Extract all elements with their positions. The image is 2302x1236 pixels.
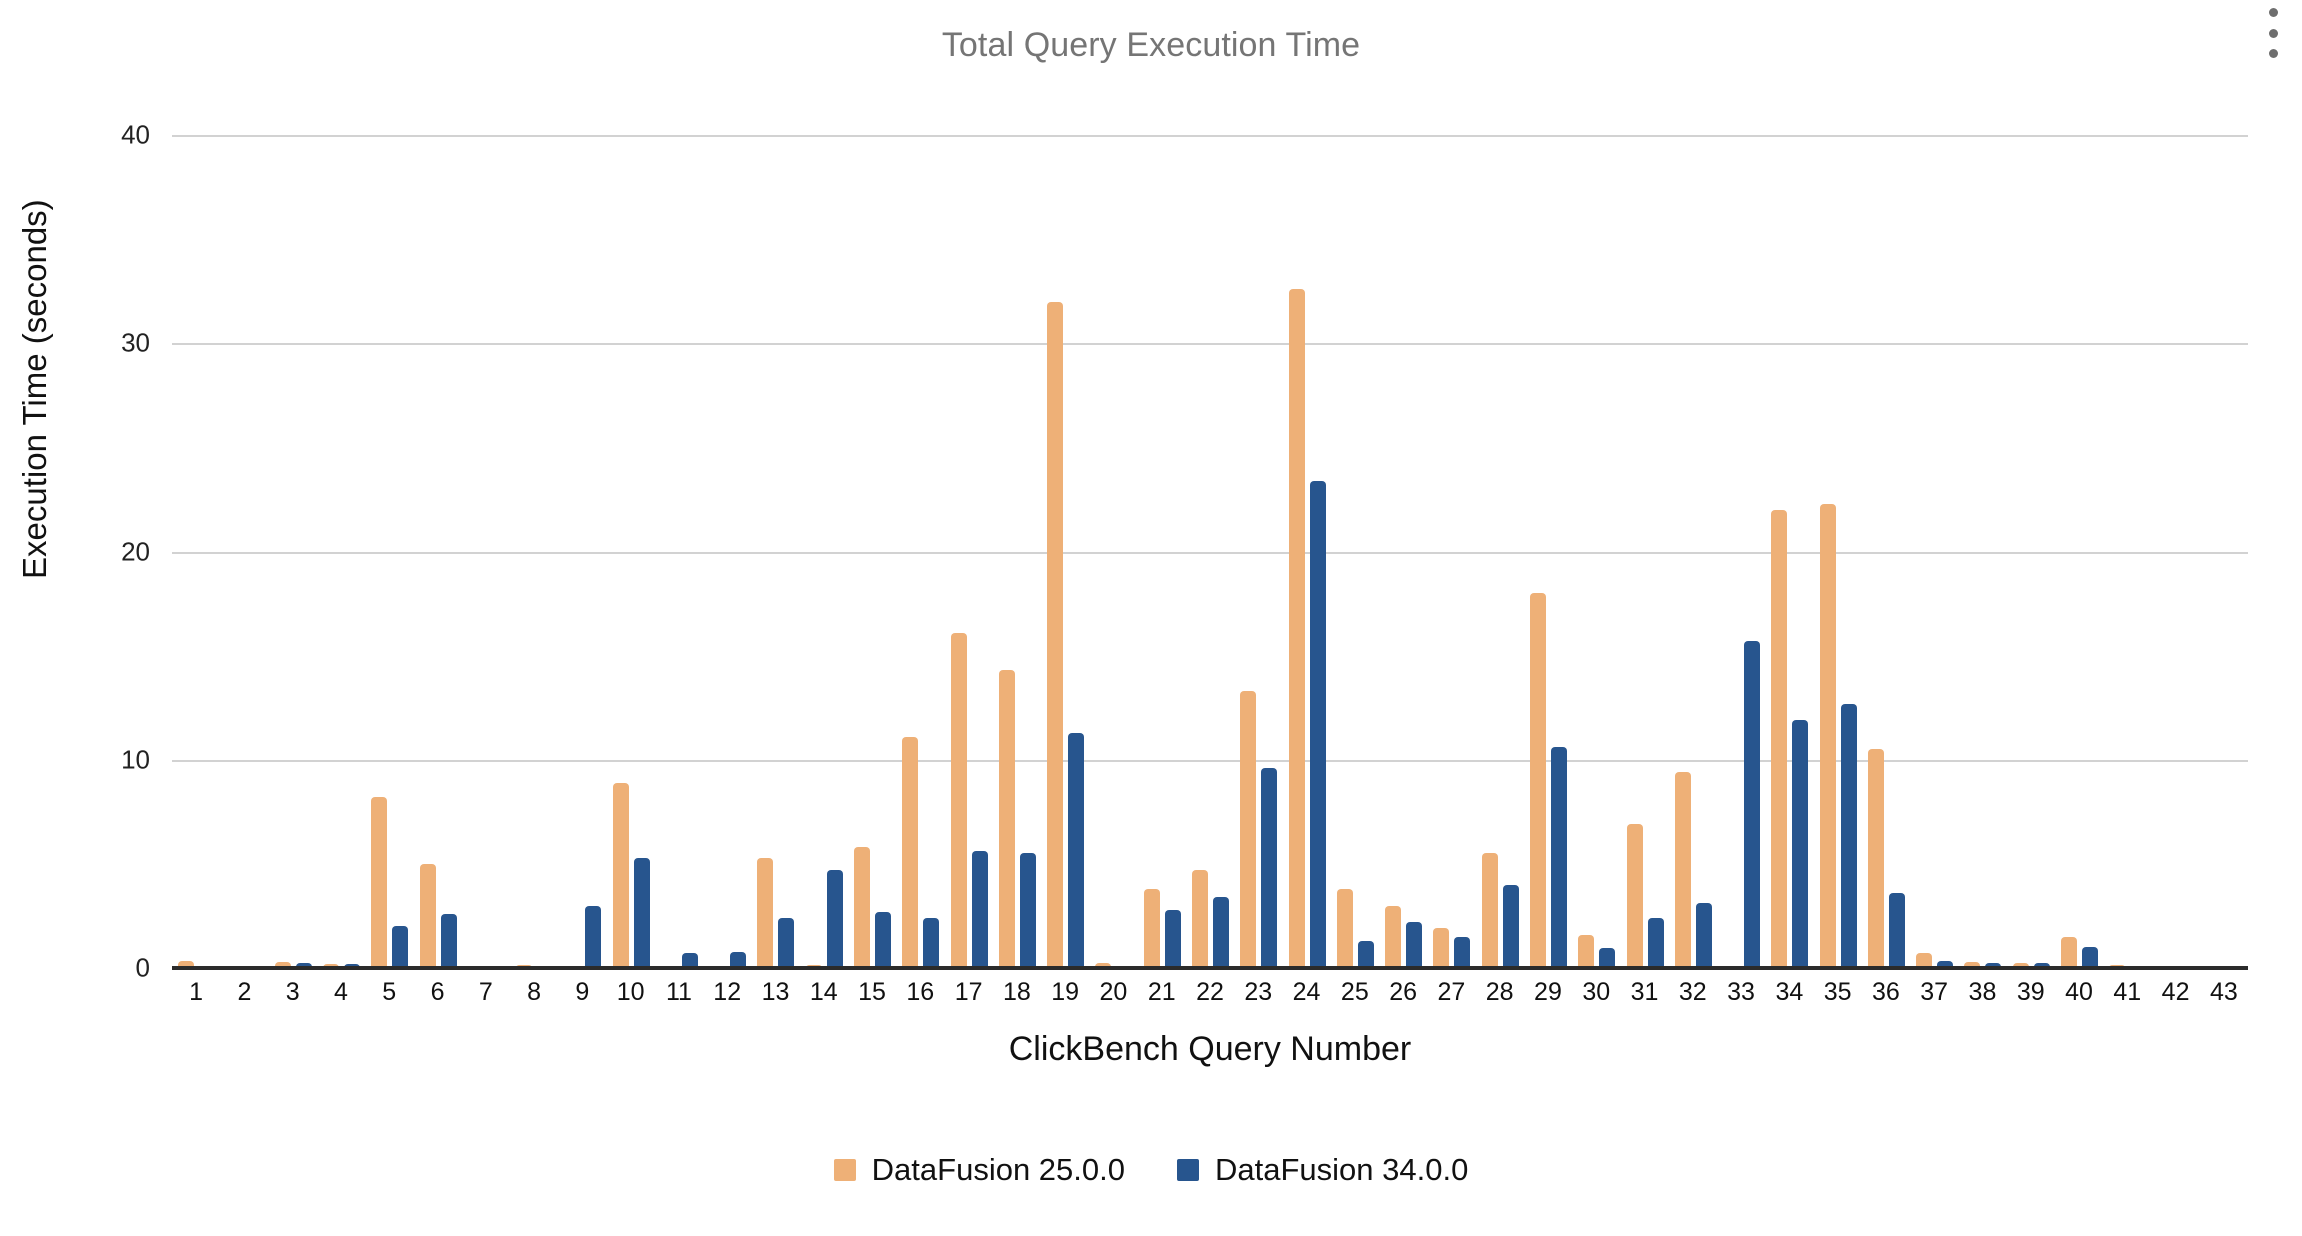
bar[interactable] <box>757 858 773 968</box>
bar-group <box>1575 135 1618 968</box>
bar-group <box>610 135 653 968</box>
bar[interactable] <box>854 847 870 968</box>
bar[interactable] <box>1261 768 1277 968</box>
bar[interactable] <box>2082 947 2098 968</box>
bar-group <box>996 135 1039 968</box>
y-axis-tick-label: 30 <box>30 328 150 359</box>
bar[interactable] <box>1337 889 1353 968</box>
bar-group <box>851 135 894 968</box>
bar-group <box>1720 135 1763 968</box>
bar[interactable] <box>1385 906 1401 968</box>
bar-group <box>1286 135 1329 968</box>
bar-group <box>706 135 749 968</box>
bar[interactable] <box>875 912 891 968</box>
bar[interactable] <box>1868 749 1884 968</box>
bar-group <box>368 135 411 968</box>
bar[interactable] <box>613 783 629 968</box>
bar[interactable] <box>1696 903 1712 968</box>
bar-group <box>1527 135 1570 968</box>
bar[interactable] <box>2061 937 2077 968</box>
legend: DataFusion 25.0.0DataFusion 34.0.0 <box>0 1152 2302 1188</box>
bar-group <box>2155 135 2198 968</box>
bar-group <box>948 135 991 968</box>
bar-group <box>1430 135 1473 968</box>
chart-container: Total Query Execution Time Execution Tim… <box>0 0 2302 1236</box>
bar-group <box>1044 135 1087 968</box>
y-axis-tick-label: 20 <box>30 536 150 567</box>
bar-group <box>1913 135 1956 968</box>
y-axis-tick-label: 0 <box>30 953 150 984</box>
bar-group <box>1334 135 1377 968</box>
legend-item[interactable]: DataFusion 25.0.0 <box>834 1152 1125 1188</box>
legend-label: DataFusion 25.0.0 <box>872 1152 1125 1188</box>
bar-group <box>803 135 846 968</box>
plot-area <box>172 135 2248 968</box>
bar[interactable] <box>1503 885 1519 968</box>
x-axis-line <box>172 966 2248 970</box>
legend-swatch-icon <box>1177 1159 1199 1181</box>
legend-swatch-icon <box>834 1159 856 1181</box>
bar[interactable] <box>1771 510 1787 968</box>
bar[interactable] <box>1068 733 1084 968</box>
bar[interactable] <box>1454 937 1470 968</box>
menu-dot <box>2269 8 2278 17</box>
x-axis-title: ClickBench Query Number <box>172 1030 2248 1069</box>
bar[interactable] <box>1213 897 1229 968</box>
bar-group <box>2058 135 2101 968</box>
bars-layer <box>172 135 2248 968</box>
bar-group <box>223 135 266 968</box>
legend-label: DataFusion 34.0.0 <box>1215 1152 1468 1188</box>
legend-item[interactable]: DataFusion 34.0.0 <box>1177 1152 1468 1188</box>
bar-group <box>899 135 942 968</box>
y-axis-title-text: Execution Time (seconds) <box>16 199 54 579</box>
x-axis-tick-label: 43 <box>2189 978 2259 1007</box>
bar[interactable] <box>1310 481 1326 968</box>
bar[interactable] <box>1047 302 1063 968</box>
bar[interactable] <box>1358 941 1374 968</box>
bar[interactable] <box>1820 504 1836 968</box>
bar-group <box>465 135 508 968</box>
bar[interactable] <box>441 914 457 968</box>
bar[interactable] <box>827 870 843 968</box>
chart-title: Total Query Execution Time <box>0 26 2302 65</box>
bar[interactable] <box>1648 918 1664 968</box>
bar[interactable] <box>420 864 436 968</box>
bar[interactable] <box>1889 893 1905 968</box>
bar[interactable] <box>1144 889 1160 968</box>
bar-group <box>320 135 363 968</box>
bar-group <box>658 135 701 968</box>
bar-group <box>1479 135 1522 968</box>
bar[interactable] <box>1530 593 1546 968</box>
bar[interactable] <box>1020 853 1036 968</box>
bar[interactable] <box>778 918 794 968</box>
bar[interactable] <box>1165 910 1181 968</box>
bar[interactable] <box>634 858 650 968</box>
bar[interactable] <box>923 918 939 968</box>
bar-group <box>1672 135 1715 968</box>
bar-group <box>1092 135 1135 968</box>
bar-group <box>1189 135 1232 968</box>
bar[interactable] <box>902 737 918 968</box>
bar[interactable] <box>1578 935 1594 968</box>
x-axis-tick-labels: 1234567891011121314151617181920212223242… <box>172 978 2248 1018</box>
bar-group <box>513 135 556 968</box>
bar-group <box>2010 135 2053 968</box>
bar[interactable] <box>1627 824 1643 968</box>
bar-group <box>1141 135 1184 968</box>
bar[interactable] <box>1289 289 1305 968</box>
bar[interactable] <box>1792 720 1808 968</box>
bar[interactable] <box>999 670 1015 968</box>
bar-group <box>272 135 315 968</box>
bar[interactable] <box>1192 870 1208 968</box>
bar[interactable] <box>1551 747 1567 968</box>
bar-group <box>1768 135 1811 968</box>
bar-group <box>561 135 604 968</box>
bar[interactable] <box>951 633 967 968</box>
bar[interactable] <box>585 906 601 968</box>
bar-group <box>1961 135 2004 968</box>
bar[interactable] <box>972 851 988 968</box>
bar[interactable] <box>371 797 387 968</box>
bar-group <box>175 135 218 968</box>
bar-group <box>1237 135 1280 968</box>
bar-group <box>2203 135 2246 968</box>
bar-group <box>2106 135 2149 968</box>
bar[interactable] <box>1744 641 1760 968</box>
bar-group <box>1382 135 1425 968</box>
y-axis-tick-label: 40 <box>30 120 150 151</box>
bar-group <box>754 135 797 968</box>
bar[interactable] <box>1482 853 1498 968</box>
bar-group <box>1865 135 1908 968</box>
bar-group <box>1624 135 1667 968</box>
bar[interactable] <box>1240 691 1256 968</box>
bar-group <box>417 135 460 968</box>
bar[interactable] <box>1433 928 1449 968</box>
bar[interactable] <box>1675 772 1691 968</box>
bar[interactable] <box>1841 704 1857 968</box>
bar[interactable] <box>1406 922 1422 968</box>
y-axis-tick-label: 10 <box>30 744 150 775</box>
bar-group <box>1817 135 1860 968</box>
bar[interactable] <box>392 926 408 968</box>
